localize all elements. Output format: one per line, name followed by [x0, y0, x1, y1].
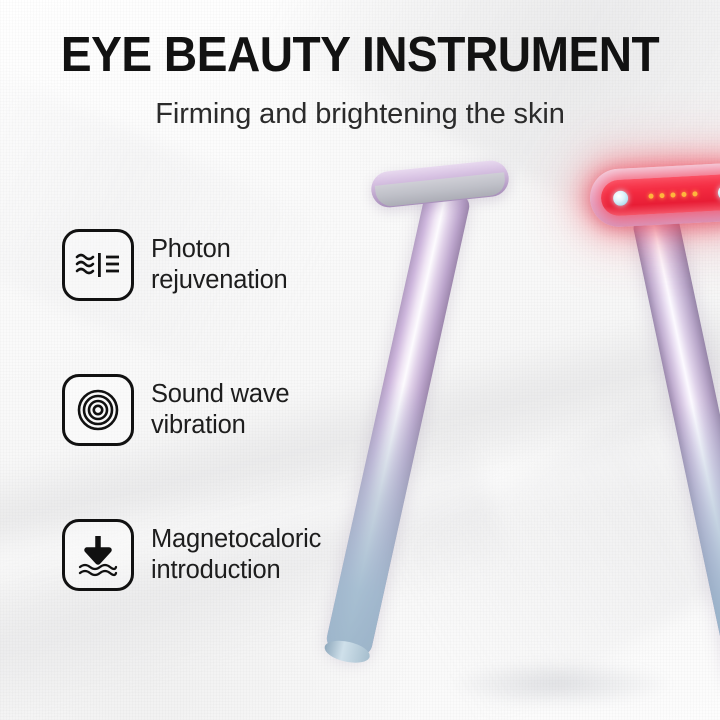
feature-list: Photon rejuvenation Sound wave vibration [62, 222, 362, 597]
led-indicator-dots [648, 191, 697, 199]
feature-label: Photon rejuvenation [151, 234, 288, 294]
photon-waves-lines-icon [62, 229, 134, 301]
product-shadow [445, 660, 675, 708]
feature-item-photon-rejuvenation: Photon rejuvenation [62, 222, 362, 307]
feature-label-line2: rejuvenation [151, 265, 288, 295]
feature-label-line1: Sound wave [151, 380, 289, 408]
page-title: EYE BEAUTY INSTRUMENT [22, 30, 699, 81]
wand-head-plain [369, 159, 510, 209]
led-dot [670, 192, 675, 197]
feature-label: Sound wave vibration [151, 379, 289, 439]
feature-item-sound-wave-vibration: Sound wave vibration [62, 367, 362, 452]
feature-item-magnetocaloric-introduction: Magnetocaloric introduction [62, 512, 362, 597]
down-arrow-waves-icon [62, 519, 134, 591]
concentric-soundwave-icon [62, 374, 134, 446]
feature-label: Magnetocaloric introduction [151, 524, 321, 584]
wand-head-led [589, 162, 720, 229]
led-panel [600, 173, 720, 216]
led-dot [681, 192, 686, 197]
product-banner: EYE BEAUTY INSTRUMENT Firming and bright… [0, 0, 720, 720]
led-dot [659, 193, 664, 198]
feature-label-line1: Magnetocaloric [151, 525, 321, 553]
page-subtitle: Firming and brightening the skin [0, 98, 720, 131]
led-dot [692, 191, 697, 196]
feature-label-line1: Photon [151, 235, 231, 263]
led-spot-left [613, 190, 629, 206]
feature-label-line2: introduction [151, 555, 321, 585]
product-image [355, 140, 720, 720]
led-dot [648, 194, 653, 199]
feature-label-line2: vibration [151, 410, 289, 440]
wand-open-end [631, 205, 720, 694]
